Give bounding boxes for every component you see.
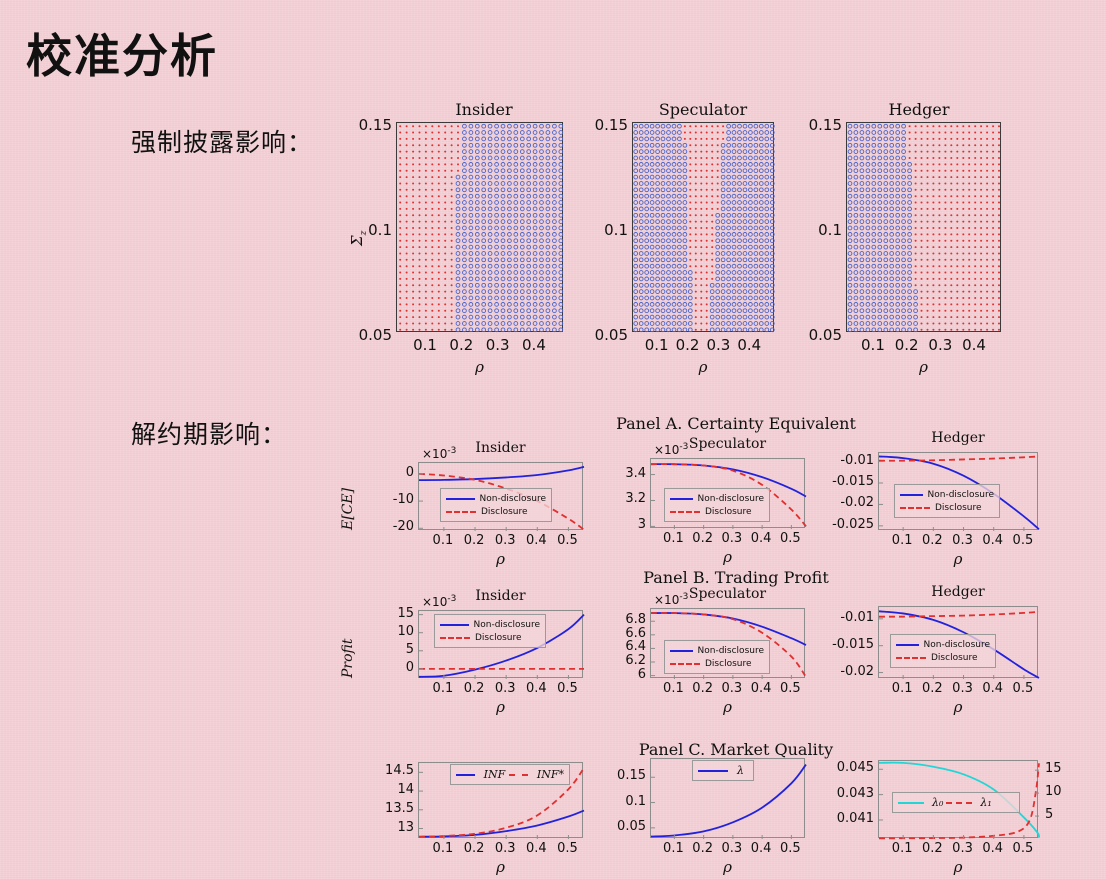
legend-swatch	[896, 657, 926, 659]
tick-y: 3	[598, 517, 646, 532]
xlabel-rho: ρ	[714, 698, 742, 716]
chart-legend: Non-disclosureDisclosure	[664, 640, 770, 674]
scatter-title-insider: Insider	[414, 100, 554, 119]
section-label-horizon: 解约期影响：	[131, 415, 287, 451]
scatter-xtick: 0.4	[956, 336, 992, 354]
tick-y: 10	[366, 624, 414, 639]
legend-row: Disclosure	[446, 505, 546, 518]
section-label-mandatory-disclosure: 强制披露影响：	[131, 123, 313, 159]
tick-y: 13.5	[366, 801, 414, 816]
legend-label: Disclosure	[481, 507, 528, 517]
xlabel-rho: ρ	[714, 858, 742, 876]
legend-row: Non-disclosure	[900, 488, 994, 501]
legend-swatch	[440, 637, 470, 639]
legend-label: Non-disclosure	[698, 494, 764, 504]
scatter-xtick: 0.1	[407, 336, 443, 354]
legend-row: Non-disclosure	[440, 618, 540, 631]
legend-swatch	[698, 770, 728, 772]
legend-row: Disclosure	[670, 505, 764, 518]
legend-label: INF*	[537, 768, 564, 781]
legend-swatch	[446, 498, 475, 500]
xlabel-rho: ρ	[487, 858, 515, 876]
chart-legend: Non-disclosureDisclosure	[440, 488, 552, 522]
legend-swatch	[670, 498, 693, 500]
tick-y: 0.1	[598, 794, 646, 809]
scatter-xlabel-rho: ρ	[689, 358, 717, 376]
xlabel-rho: ρ	[714, 548, 742, 566]
scatter-ytick: 0.05	[586, 326, 628, 344]
legend-label: Non-disclosure	[480, 494, 546, 504]
legend-row: Disclosure	[670, 657, 764, 670]
series-Non-disclosure	[419, 467, 584, 480]
legend-swatch	[900, 507, 930, 509]
chart-title-insider: Insider	[431, 588, 571, 604]
tick-y: -0.01	[826, 453, 874, 468]
tick-y: 6.6	[598, 626, 646, 641]
legend-label: Disclosure	[705, 659, 752, 669]
legend-swatch	[670, 650, 693, 652]
chart-title-speculator: Speculator	[658, 586, 798, 602]
scatter-ytick: 0.1	[800, 221, 842, 239]
tick-x: 0.5	[772, 841, 808, 856]
scatter-ytick: 0.05	[350, 326, 392, 344]
tick-y: 3.4	[598, 466, 646, 481]
legend-label: Non-disclosure	[474, 620, 540, 630]
legend-swatch	[670, 663, 700, 665]
scatter-title-hedger: Hedger	[849, 100, 989, 119]
ylabel: E[CE]	[340, 488, 356, 530]
chart-legend: INFINF*	[450, 764, 570, 785]
tick-y: 0	[366, 660, 414, 675]
tick-y: 5	[366, 642, 414, 657]
xlabel-rho: ρ	[487, 698, 515, 716]
legend-label: Disclosure	[931, 653, 978, 663]
legend-label: Disclosure	[475, 633, 522, 643]
tick-x: 0.5	[772, 531, 808, 546]
scatter-xtick: 0.2	[443, 336, 479, 354]
tick-x: 0.5	[549, 841, 585, 856]
tick-y: 0.05	[598, 819, 646, 834]
legend-swatch	[670, 511, 700, 513]
page-title: 校准分析	[26, 20, 218, 86]
xlabel-rho: ρ	[487, 550, 515, 568]
scatter-xlabel-rho: ρ	[910, 358, 938, 376]
scatter-ytick: 0.15	[586, 116, 628, 134]
panel-c-title: Panel C. Market Quality	[596, 740, 876, 759]
xlabel-rho: ρ	[944, 698, 972, 716]
scatter-xtick: 0.4	[731, 336, 767, 354]
panel-b-title: Panel B. Trading Profit	[586, 568, 886, 587]
tick-y: 0.045	[826, 760, 874, 775]
scatter-title-speculator: Speculator	[633, 100, 773, 119]
scatter-xtick: 0.2	[889, 336, 925, 354]
scatter-xlabel-rho: ρ	[466, 358, 494, 376]
tick-y-right: 15	[1045, 761, 1075, 776]
tick-y: -20	[366, 519, 414, 534]
legend-swatch	[946, 802, 972, 804]
tick-x: 0.5	[1005, 681, 1041, 696]
chart-legend: λ₀λ₁	[892, 792, 1020, 813]
tick-x: 0.5	[1005, 533, 1041, 548]
chart-legend: Non-disclosureDisclosure	[434, 614, 546, 648]
panel-a-title: Panel A. Certainty Equivalent	[566, 414, 906, 433]
legend-label: λ₀	[932, 796, 943, 809]
tick-y: 6.4	[598, 639, 646, 654]
legend-label: Non-disclosure	[698, 646, 764, 656]
tick-y: 0	[366, 465, 414, 480]
chart-title-speculator: Speculator	[658, 436, 798, 452]
scatter-ytick: 0.15	[800, 116, 842, 134]
scatter-xtick: 0.3	[922, 336, 958, 354]
legend-label: INF	[484, 768, 506, 781]
chart-title-hedger: Hedger	[888, 584, 1028, 600]
chart-legend: Non-disclosureDisclosure	[890, 634, 996, 668]
series-INF	[419, 811, 584, 837]
legend-label: Non-disclosure	[928, 490, 994, 500]
legend-swatch	[509, 774, 528, 776]
legend-label: Disclosure	[935, 503, 982, 513]
legend-swatch	[900, 494, 923, 496]
scatter-ylabel-sigma-z: Σz	[348, 231, 369, 246]
scatter-xtick: 0.3	[480, 336, 516, 354]
tick-y: 14.5	[366, 763, 414, 778]
legend-row: Disclosure	[896, 651, 990, 664]
tick-y: 0.041	[826, 811, 874, 826]
legend-row: Non-disclosure	[670, 644, 764, 657]
legend-row: Disclosure	[900, 501, 994, 514]
tick-y: -0.01	[826, 610, 874, 625]
legend-row: Non-disclosure	[896, 638, 990, 651]
legend-swatch	[440, 624, 469, 626]
xlabel-rho: ρ	[944, 550, 972, 568]
tick-y: 14	[366, 782, 414, 797]
xlabel-rho: ρ	[944, 858, 972, 876]
scatter-plot-area-insider	[396, 122, 563, 332]
tick-y: -0.015	[826, 474, 874, 489]
tick-y: 3.2	[598, 491, 646, 506]
legend-swatch	[896, 644, 919, 646]
scatter-ytick: 0.15	[350, 116, 392, 134]
legend-label: λ₁	[980, 796, 991, 809]
legend-row: Disclosure	[440, 631, 540, 644]
tick-y: 15	[366, 606, 414, 621]
tick-y: -10	[366, 492, 414, 507]
scatter-plot-area-speculator	[632, 122, 774, 332]
ylabel: Profit	[340, 638, 356, 678]
tick-x: 0.5	[1005, 841, 1041, 856]
tick-x: 0.5	[772, 681, 808, 696]
tick-y: 13	[366, 820, 414, 835]
tick-y: -0.015	[826, 637, 874, 652]
legend-swatch	[898, 802, 924, 804]
tick-y-right: 5	[1045, 807, 1075, 822]
legend-label: Disclosure	[705, 507, 752, 517]
chart-legend: λ	[692, 760, 754, 781]
tick-y: 6	[598, 667, 646, 682]
tick-y: 0.15	[598, 768, 646, 783]
scatter-xtick: 0.1	[855, 336, 891, 354]
tick-x: 0.5	[549, 681, 585, 696]
legend-row: Non-disclosure	[670, 492, 764, 505]
chart-legend: Non-disclosureDisclosure	[894, 484, 1000, 518]
tick-y: -0.025	[826, 517, 874, 532]
legend-label: Non-disclosure	[924, 640, 990, 650]
tick-y-right: 10	[1045, 784, 1075, 799]
tick-y: 0.043	[826, 786, 874, 801]
scatter-xtick: 0.4	[516, 336, 552, 354]
tick-y: -0.02	[826, 664, 874, 679]
scatter-ytick: 0.1	[586, 221, 628, 239]
legend-row: Non-disclosure	[446, 492, 546, 505]
chart-title-insider: Insider	[431, 440, 571, 456]
legend-swatch	[456, 774, 475, 776]
tick-x: 0.5	[549, 533, 585, 548]
chart-title-hedger: Hedger	[888, 430, 1028, 446]
chart-legend: Non-disclosureDisclosure	[664, 488, 770, 522]
scatter-plot-area-hedger	[846, 122, 1001, 332]
scatter-ytick: 0.05	[800, 326, 842, 344]
tick-y: -0.02	[826, 495, 874, 510]
legend-label: λ	[737, 764, 744, 777]
legend-swatch	[446, 511, 476, 513]
tick-y: 6.8	[598, 612, 646, 627]
tick-y: 6.2	[598, 653, 646, 668]
